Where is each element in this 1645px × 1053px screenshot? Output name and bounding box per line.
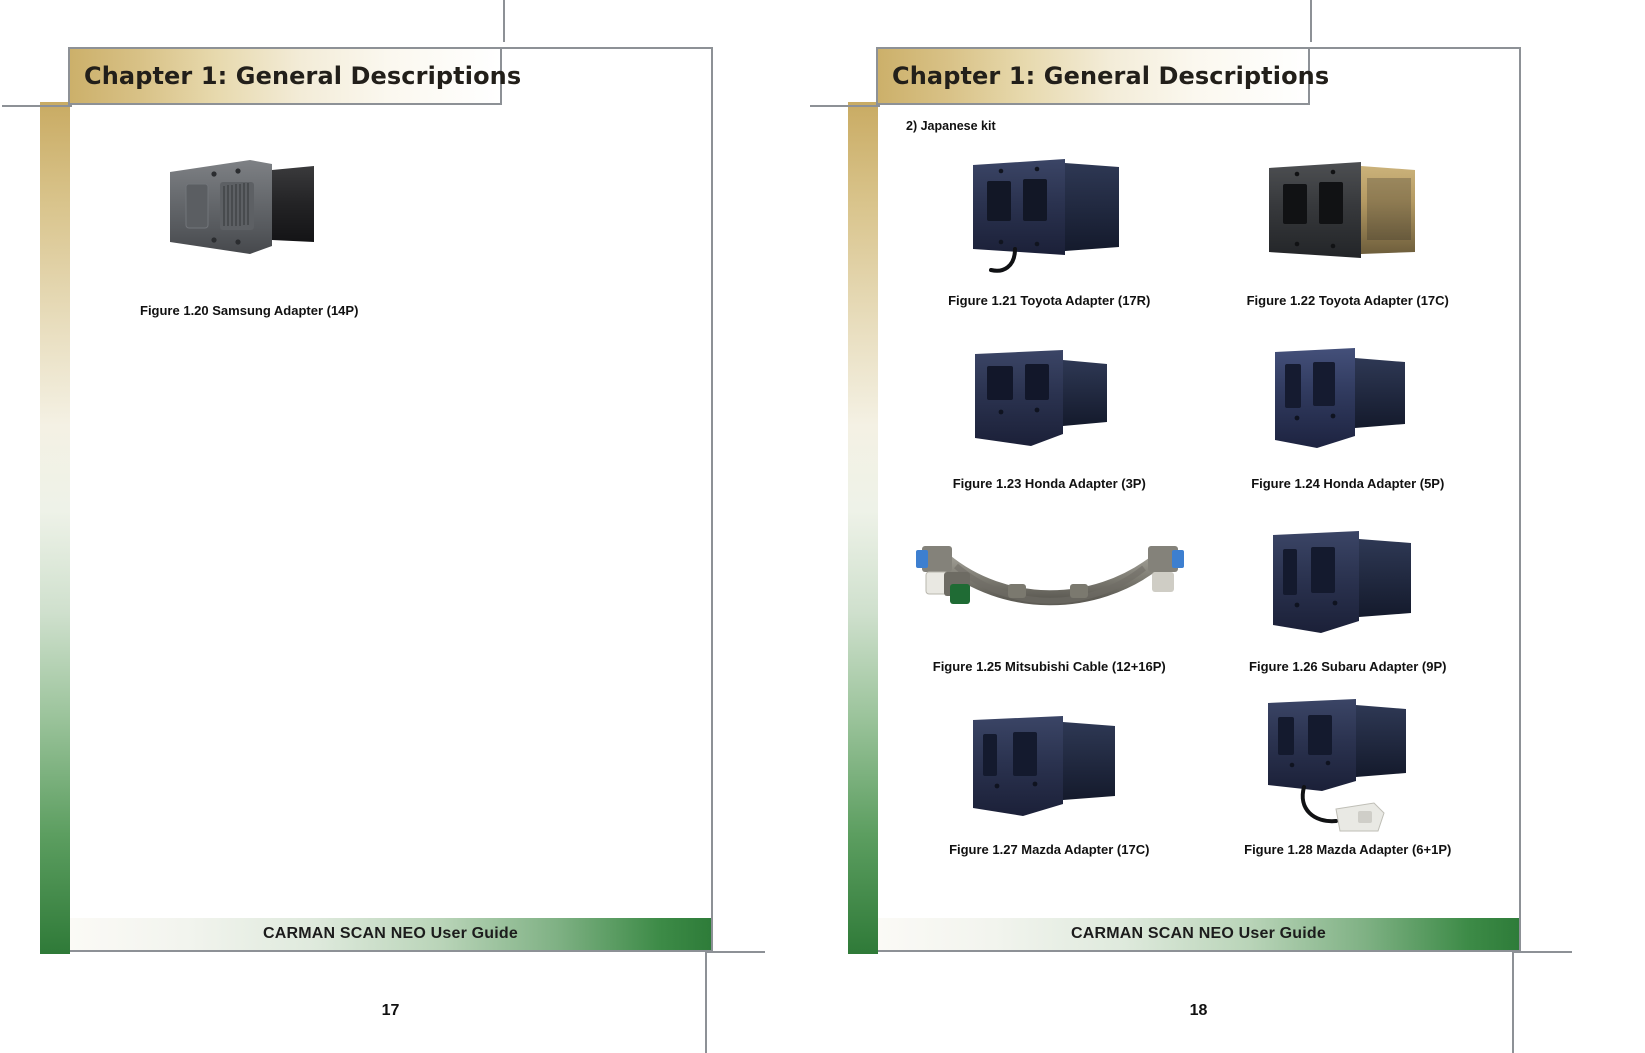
figure-1-20-caption: Figure 1.20 Samsung Adapter (14P)	[92, 303, 689, 318]
page-17-body: Chapter 1: General Descriptions	[68, 47, 713, 952]
figure-1-27: Figure 1.27 Mazda Adapter (17C)	[900, 692, 1199, 875]
figure-1-25-caption: Figure 1.25 Mitsubishi Cable (12+16P)	[933, 659, 1166, 674]
page-17-header-rule	[2, 105, 72, 107]
crop-mark-bottom-right-horizontal	[1512, 951, 1572, 953]
page-18-header-rule	[810, 105, 880, 107]
figure-1-22: Figure 1.22 Toyota Adapter (17C)	[1199, 143, 1498, 326]
figure-1-26-caption: Figure 1.26 Subaru Adapter (9P)	[1249, 659, 1446, 674]
page-17-footer-text: CARMAN SCAN NEO User Guide	[263, 925, 518, 943]
samsung-adapter-14p-illustration	[162, 150, 342, 265]
crop-mark-top-left-vertical	[503, 0, 505, 42]
page-18-content: 2) Japanese kit	[900, 119, 1497, 910]
figure-1-24-caption: Figure 1.24 Honda Adapter (5P)	[1251, 476, 1444, 491]
two-page-spread: Chapter 1: General Descriptions	[0, 0, 1645, 1053]
figure-1-24: Figure 1.24 Honda Adapter (5P)	[1199, 326, 1498, 509]
page-18-footer: CARMAN SCAN NEO User Guide	[878, 918, 1519, 950]
page-17: Chapter 1: General Descriptions	[68, 47, 713, 952]
page-17-content: Figure 1.20 Samsung Adapter (14P)	[92, 119, 689, 910]
toyota-adapter-17r-photo	[957, 143, 1142, 291]
mazda-adapter-17c-photo	[957, 692, 1142, 840]
crop-mark-bottom-right-vertical	[1512, 938, 1514, 1053]
figure-1-20: Figure 1.20 Samsung Adapter (14P)	[92, 137, 689, 318]
mazda-adapter-6-1p-illustration	[1248, 691, 1448, 841]
mazda-adapter-17c-illustration	[957, 704, 1142, 829]
japanese-kit-label: 2) Japanese kit	[906, 119, 1497, 133]
honda-adapter-3p-photo	[957, 326, 1142, 474]
page-18-body: Chapter 1: General Descriptions 2) Japan…	[876, 47, 1521, 952]
figure-1-28-caption: Figure 1.28 Mazda Adapter (6+1P)	[1244, 842, 1451, 857]
page-18-number: 18	[876, 1002, 1521, 1020]
page-17-number: 17	[68, 1002, 713, 1020]
figure-1-27-caption: Figure 1.27 Mazda Adapter (17C)	[949, 842, 1149, 857]
toyota-adapter-17r-illustration	[957, 147, 1142, 287]
page-17-chapter-title: Chapter 1: General Descriptions	[70, 62, 521, 90]
toyota-adapter-17c-photo	[1255, 143, 1440, 291]
honda-adapter-5p-illustration	[1255, 338, 1440, 463]
figure-1-28: Figure 1.28 Mazda Adapter (6+1P)	[1199, 692, 1498, 875]
page-17-side-gradient-bar	[40, 102, 70, 954]
figure-1-25: Figure 1.25 Mitsubishi Cable (12+16P)	[900, 509, 1199, 692]
figure-grid: Figure 1.21 Toyota Adapter (17R)	[900, 143, 1497, 875]
figure-1-23-caption: Figure 1.23 Honda Adapter (3P)	[953, 476, 1146, 491]
toyota-adapter-17c-illustration	[1255, 152, 1440, 282]
page-17-chapter-header: Chapter 1: General Descriptions	[68, 47, 502, 105]
mitsubishi-cable-12-16p-photo	[904, 509, 1194, 657]
samsung-adapter-14p-photo	[92, 137, 689, 277]
crop-mark-bottom-left-vertical	[705, 938, 707, 1053]
figure-1-21: Figure 1.21 Toyota Adapter (17R)	[900, 143, 1199, 326]
mitsubishi-cable-illustration	[904, 528, 1194, 638]
figure-1-21-caption: Figure 1.21 Toyota Adapter (17R)	[948, 293, 1150, 308]
honda-adapter-3p-illustration	[957, 338, 1142, 463]
page-18-side-gradient-bar	[848, 102, 878, 954]
page-18-chapter-header: Chapter 1: General Descriptions	[876, 47, 1310, 105]
mazda-adapter-6-1p-photo	[1248, 692, 1448, 840]
subaru-adapter-9p-illustration	[1255, 521, 1440, 646]
figure-1-26: Figure 1.26 Subaru Adapter (9P)	[1199, 509, 1498, 692]
figure-1-23: Figure 1.23 Honda Adapter (3P)	[900, 326, 1199, 509]
page-18-footer-text: CARMAN SCAN NEO User Guide	[1071, 925, 1326, 943]
honda-adapter-5p-photo	[1255, 326, 1440, 474]
page-18-chapter-title: Chapter 1: General Descriptions	[878, 62, 1329, 90]
crop-mark-bottom-left-horizontal	[705, 951, 765, 953]
page-18: Chapter 1: General Descriptions 2) Japan…	[876, 47, 1521, 952]
figure-1-22-caption: Figure 1.22 Toyota Adapter (17C)	[1247, 293, 1449, 308]
subaru-adapter-9p-photo	[1255, 509, 1440, 657]
crop-mark-top-right-vertical	[1310, 0, 1312, 42]
page-17-footer: CARMAN SCAN NEO User Guide	[70, 918, 711, 950]
